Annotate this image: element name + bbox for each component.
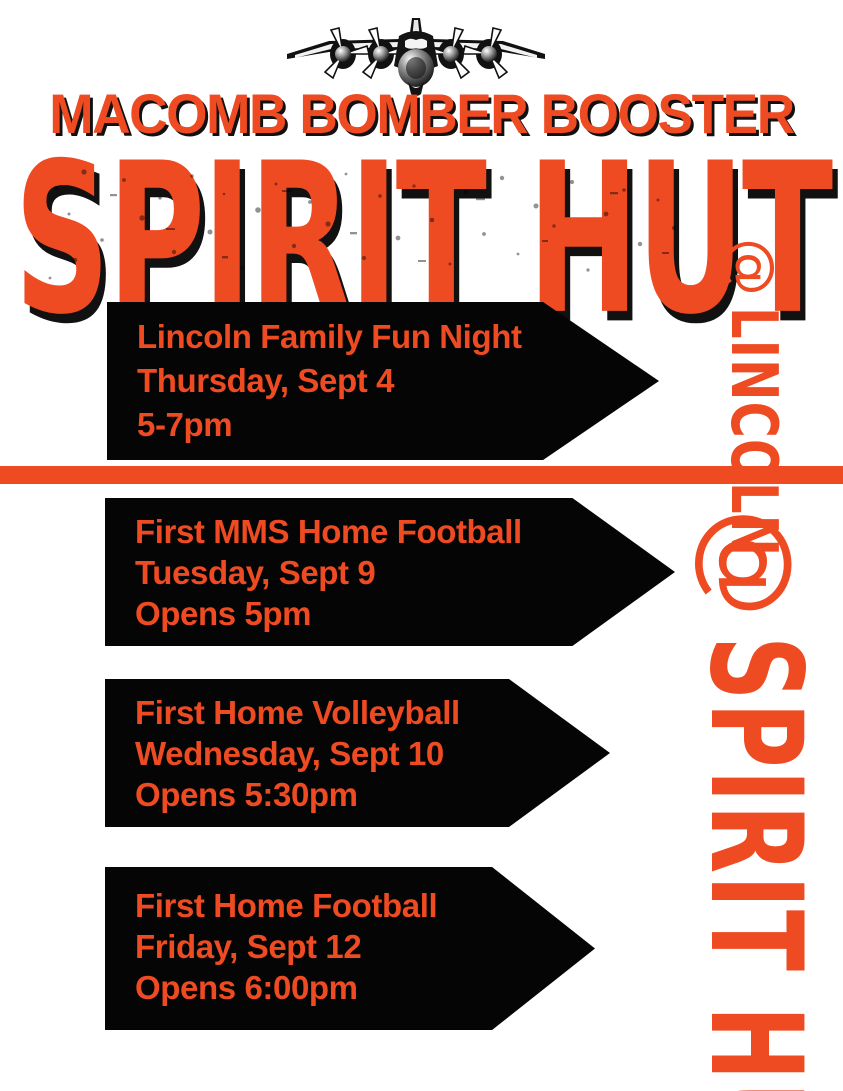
event-date: Tuesday, Sept 9 — [135, 552, 605, 593]
at-symbol-icon: @ — [700, 508, 804, 620]
location-label-spirit-hut: @SPIRIT HUT — [700, 508, 808, 1091]
event-date: Wednesday, Sept 10 — [135, 733, 540, 774]
event-banner-4[interactable]: First Home Football Friday, Sept 12 Open… — [105, 867, 595, 1030]
spirit-hut-poster: MACOMB BOMBER BOOSTER SPIRIT HUT! Lin — [0, 0, 843, 1091]
event-banner-3[interactable]: First Home Volleyball Wednesday, Sept 10… — [105, 679, 610, 827]
event-time: Opens 5pm — [135, 593, 605, 634]
event-name: First MMS Home Football — [135, 511, 605, 552]
event-name: First Home Football — [135, 885, 525, 926]
event-time: Opens 6:00pm — [135, 967, 525, 1008]
event-date: Thursday, Sept 4 — [137, 359, 589, 403]
at-symbol-icon: @ — [726, 238, 780, 297]
event-time: 5-7pm — [137, 403, 589, 447]
event-name: Lincoln Family Fun Night — [137, 315, 589, 359]
event-banner-1[interactable]: Lincoln Family Fun Night Thursday, Sept … — [107, 302, 659, 460]
event-date: Friday, Sept 12 — [135, 926, 525, 967]
event-time: Opens 5:30pm — [135, 774, 540, 815]
location-label-text: SPIRIT HUT — [693, 636, 820, 1091]
event-banner-2[interactable]: First MMS Home Football Tuesday, Sept 9 … — [105, 498, 675, 646]
event-name: First Home Volleyball — [135, 692, 540, 733]
